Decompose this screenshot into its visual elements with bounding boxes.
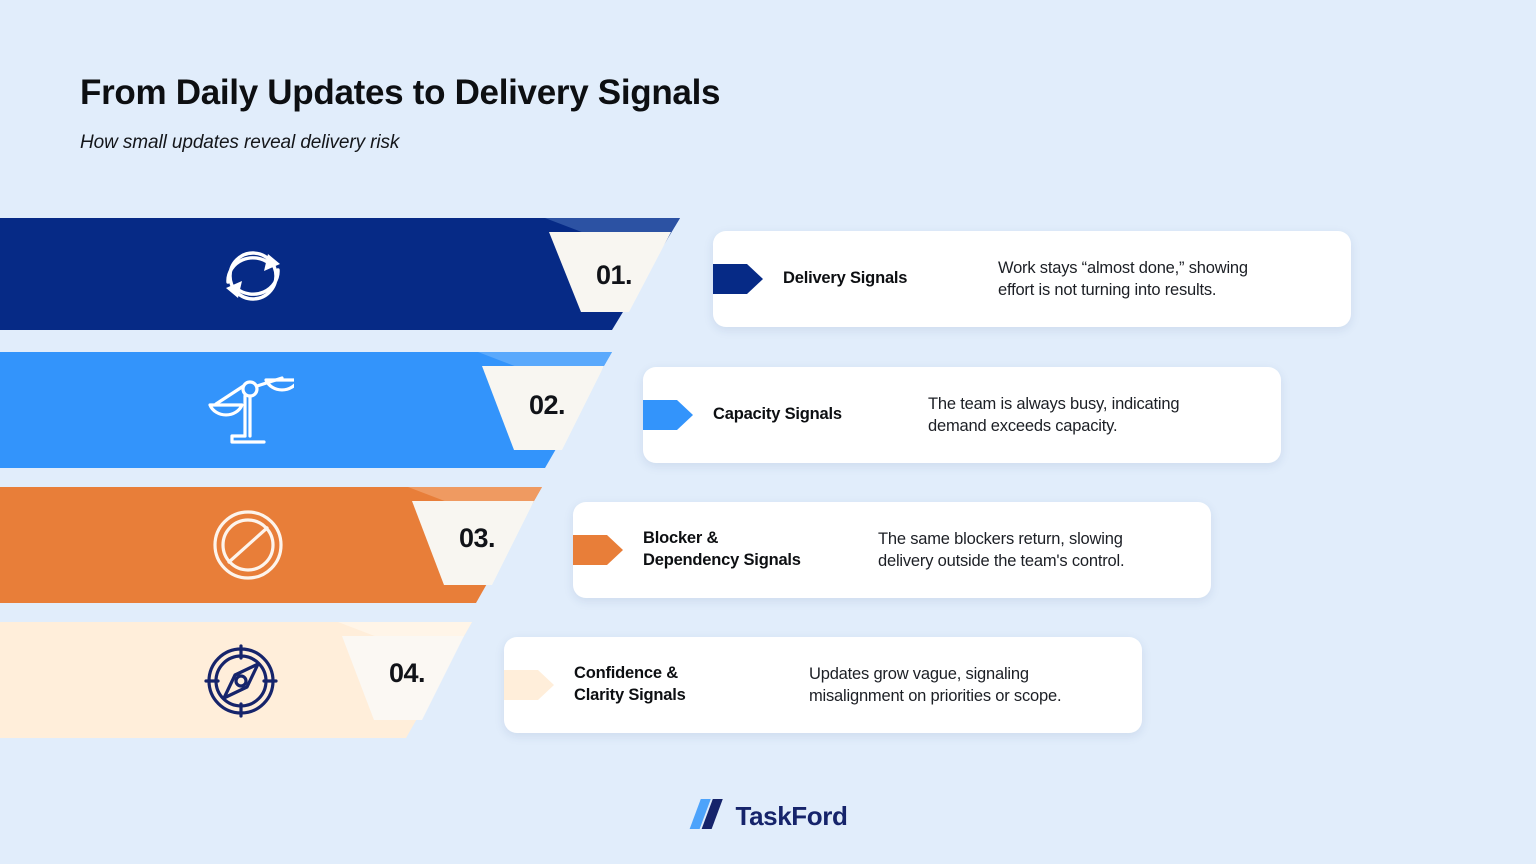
- step-number-4: 04.: [389, 658, 425, 689]
- blocker-slash-circle-icon: [207, 504, 289, 591]
- footer: TaskFord: [0, 797, 1536, 836]
- bar-1: [0, 218, 700, 330]
- step-number-3: 03.: [459, 523, 495, 554]
- signal-card-4[interactable]: Confidence & Clarity Signals Updates gro…: [504, 637, 1142, 733]
- card-description-4: Updates grow vague, signaling misalignme…: [809, 663, 1061, 707]
- card-title-3: Blocker & Dependency Signals: [643, 528, 863, 572]
- card-title-1: Delivery Signals: [783, 268, 983, 290]
- page-title: From Daily Updates to Delivery Signals: [80, 74, 720, 113]
- signal-card-1[interactable]: Delivery Signals Work stays “almost done…: [713, 231, 1351, 327]
- header: From Daily Updates to Delivery Signals H…: [80, 74, 720, 154]
- card-arrow-2: [643, 400, 693, 430]
- bar-3: [0, 487, 600, 603]
- card-arrow-1: [713, 264, 763, 294]
- brand-name: TaskFord: [736, 801, 848, 832]
- step-number-2: 02.: [529, 390, 565, 421]
- sync-refresh-icon: [208, 244, 298, 313]
- card-title-2: Capacity Signals: [713, 404, 913, 426]
- card-description-2: The team is always busy, indicating dema…: [928, 393, 1179, 437]
- signal-card-2[interactable]: Capacity Signals The team is always busy…: [643, 367, 1281, 463]
- page-subtitle: How small updates reveal delivery risk: [80, 132, 720, 154]
- card-arrow-4: [504, 670, 554, 700]
- compass-icon: [202, 642, 280, 725]
- card-description-1: Work stays “almost done,” showing effort…: [998, 257, 1248, 301]
- balance-scale-icon: [206, 372, 294, 455]
- taskford-logo-icon: [689, 797, 725, 836]
- card-arrow-3: [573, 535, 623, 565]
- signal-card-3[interactable]: Blocker & Dependency Signals The same bl…: [573, 502, 1211, 598]
- step-number-1: 01.: [596, 260, 632, 291]
- card-description-3: The same blockers return, slowing delive…: [878, 528, 1124, 572]
- card-title-4: Confidence & Clarity Signals: [574, 663, 794, 707]
